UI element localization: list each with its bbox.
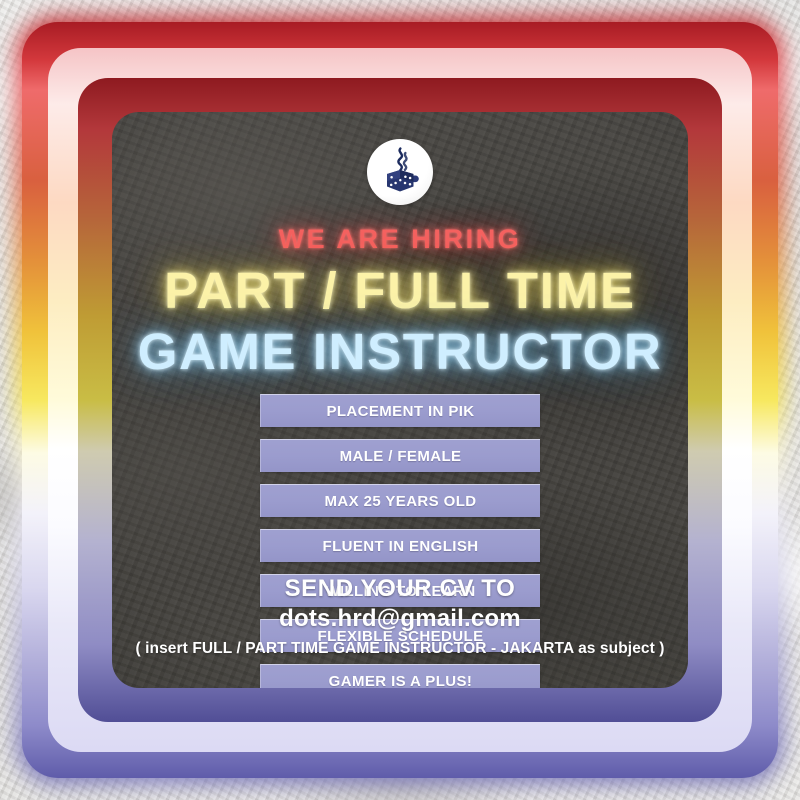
neon-frame-highlight: WE ARE HIRING PART / FULL TIME GAME INST… bbox=[48, 48, 752, 752]
footer-email-address[interactable]: dots.hrd@gmail.com bbox=[112, 605, 688, 633]
requirement-label: MALE / FEMALE bbox=[340, 448, 462, 465]
footer-subject-note: ( insert FULL / PART TIME GAME INSTRUCTO… bbox=[112, 640, 688, 658]
headline-we-are-hiring: WE ARE HIRING bbox=[112, 224, 688, 255]
poster-dark-panel: WE ARE HIRING PART / FULL TIME GAME INST… bbox=[112, 112, 688, 688]
headline-game-instructor: GAME INSTRUCTOR bbox=[112, 322, 688, 381]
requirement-bar: PLACEMENT IN PIK bbox=[260, 394, 540, 427]
headline-group: WE ARE HIRING PART / FULL TIME GAME INST… bbox=[112, 224, 688, 381]
requirement-bar: MAX 25 YEARS OLD bbox=[260, 484, 540, 517]
headline-part-full-time: PART / FULL TIME bbox=[112, 261, 688, 320]
requirement-label: FLUENT IN ENGLISH bbox=[323, 538, 479, 555]
requirement-bar: MALE / FEMALE bbox=[260, 439, 540, 472]
footer-cta-label: SEND YOUR CV TO bbox=[112, 575, 688, 603]
requirement-label: MAX 25 YEARS OLD bbox=[325, 493, 477, 510]
dice-mug-logo-icon bbox=[367, 139, 433, 205]
logo-container bbox=[112, 139, 688, 205]
requirement-label: GAMER IS A PLUS! bbox=[329, 673, 473, 689]
requirement-label: PLACEMENT IN PIK bbox=[326, 403, 474, 420]
neon-frame-innerline: WE ARE HIRING PART / FULL TIME GAME INST… bbox=[78, 78, 722, 722]
neon-frame-gradient-outer: WE ARE HIRING PART / FULL TIME GAME INST… bbox=[22, 22, 778, 778]
requirement-bar: FLUENT IN ENGLISH bbox=[260, 529, 540, 562]
poster-canvas: WE ARE HIRING PART / FULL TIME GAME INST… bbox=[0, 0, 800, 800]
requirement-bar: GAMER IS A PLUS! bbox=[260, 664, 540, 688]
footer-block: SEND YOUR CV TO dots.hrd@gmail.com ( ins… bbox=[112, 575, 688, 658]
